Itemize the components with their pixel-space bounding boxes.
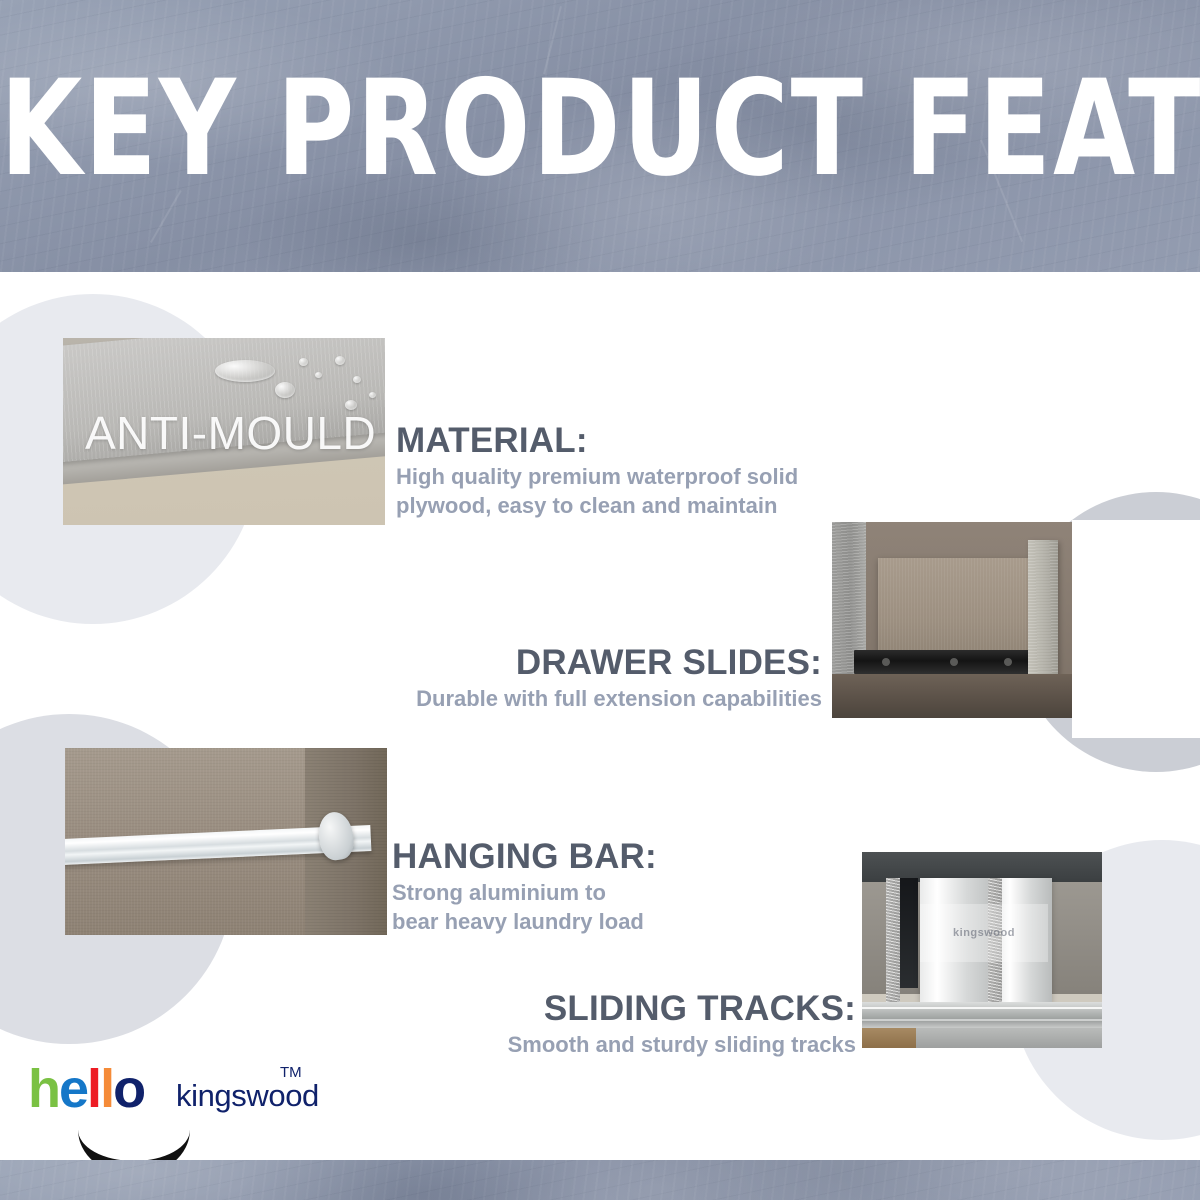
logo-brand-name: kingswood <box>176 1080 319 1111</box>
water-droplet-icon <box>215 360 275 382</box>
logo-letter-e: e <box>59 1059 87 1119</box>
logo-letter-o: o <box>113 1059 144 1119</box>
feature-block-drawer-slides: DRAWER SLIDES: Durable with full extensi… <box>330 642 822 713</box>
feature-block-hanging-bar: HANGING BAR: Strong aluminium to bear he… <box>392 836 812 936</box>
feature-desc-material-line2: plywood, easy to clean and maintain <box>396 491 866 520</box>
water-droplet-icon <box>369 392 376 398</box>
feature-title-drawer-slides: DRAWER SLIDES: <box>330 642 822 684</box>
water-droplet-icon <box>335 356 345 365</box>
brand-logo[interactable]: hello kingswood TM <box>28 1062 318 1158</box>
hanging-bar-photo <box>65 748 387 935</box>
logo-trademark-symbol: TM <box>280 1064 302 1081</box>
water-droplet-icon <box>299 358 308 366</box>
sliding-track-photo: kingswood <box>862 852 1102 1048</box>
water-droplet-icon <box>315 372 322 378</box>
logo-letter-l-orange: l <box>100 1059 113 1119</box>
feature-title-sliding-tracks: SLIDING TRACKS: <box>440 988 856 1030</box>
feature-desc-drawer-slides-line1: Durable with full extension capabilities <box>330 684 822 713</box>
feature-title-material: MATERIAL: <box>396 420 866 462</box>
feature-desc-hanging-bar-line2: bear heavy laundry load <box>392 907 812 936</box>
water-droplet-icon <box>275 382 295 398</box>
key-product-features-poster: KEY PRODUCT FEATURES ANTI-MOULD MATERIAL… <box>0 0 1200 1200</box>
anti-mould-overlay-label: ANTI-MOULD <box>85 410 376 456</box>
footer-band <box>0 1160 1200 1200</box>
feature-block-sliding-tracks: SLIDING TRACKS: Smooth and sturdy slidin… <box>440 988 856 1059</box>
feature-desc-sliding-tracks-line1: Smooth and sturdy sliding tracks <box>440 1030 856 1059</box>
feature-desc-hanging-bar-line1: Strong aluminium to <box>392 878 812 907</box>
white-overlay-block <box>1072 520 1200 738</box>
feature-desc-material-line1: High quality premium waterproof solid <box>396 462 866 491</box>
photo-watermark: kingswood <box>920 904 1048 962</box>
feature-title-hanging-bar: HANGING BAR: <box>392 836 812 878</box>
page-title: KEY PRODUCT FEATURES <box>0 62 1200 194</box>
feature-block-material: MATERIAL: High quality premium waterproo… <box>396 420 866 520</box>
logo-wordmark-hello: hello <box>28 1062 144 1116</box>
logo-letter-h: h <box>28 1059 59 1119</box>
drawer-slide-photo <box>832 522 1072 718</box>
water-droplet-icon <box>353 376 361 383</box>
logo-letter-l-red: l <box>87 1059 100 1119</box>
